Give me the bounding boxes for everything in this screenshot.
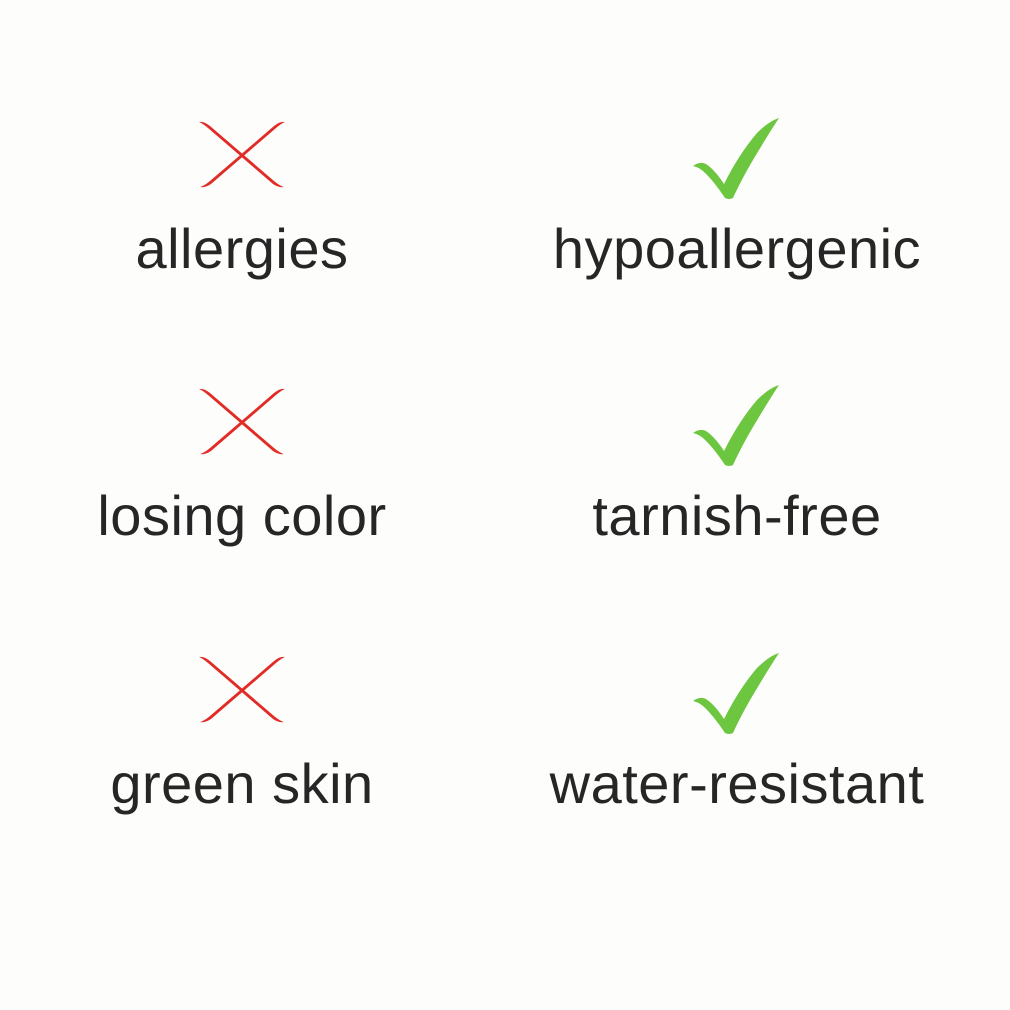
comparison-cell-positive: tarnish-free [502, 385, 972, 546]
comparison-label-negative: green skin [110, 755, 373, 814]
comparison-label-positive: tarnish-free [592, 487, 881, 546]
comparison-cell-negative: green skin [7, 653, 477, 814]
comparison-cell-negative: allergies [7, 118, 477, 279]
comparison-label-negative: losing color [97, 487, 386, 546]
check-icon [691, 118, 783, 204]
cross-icon [194, 653, 290, 739]
check-icon [691, 385, 783, 471]
check-icon [691, 653, 783, 739]
cross-icon [194, 385, 290, 471]
comparison-cell-negative: losing color [7, 385, 477, 546]
comparison-label-positive: hypoallergenic [553, 220, 921, 279]
cross-icon [194, 118, 290, 204]
comparison-cell-positive: water-resistant [502, 653, 972, 814]
comparison-cell-positive: hypoallergenic [502, 118, 972, 279]
comparison-grid: allergies hypoallergenic losing color [0, 0, 1010, 1010]
comparison-label-positive: water-resistant [550, 755, 925, 814]
comparison-label-negative: allergies [135, 220, 348, 279]
comparison-graphic: allergies hypoallergenic losing color [0, 0, 1010, 1010]
